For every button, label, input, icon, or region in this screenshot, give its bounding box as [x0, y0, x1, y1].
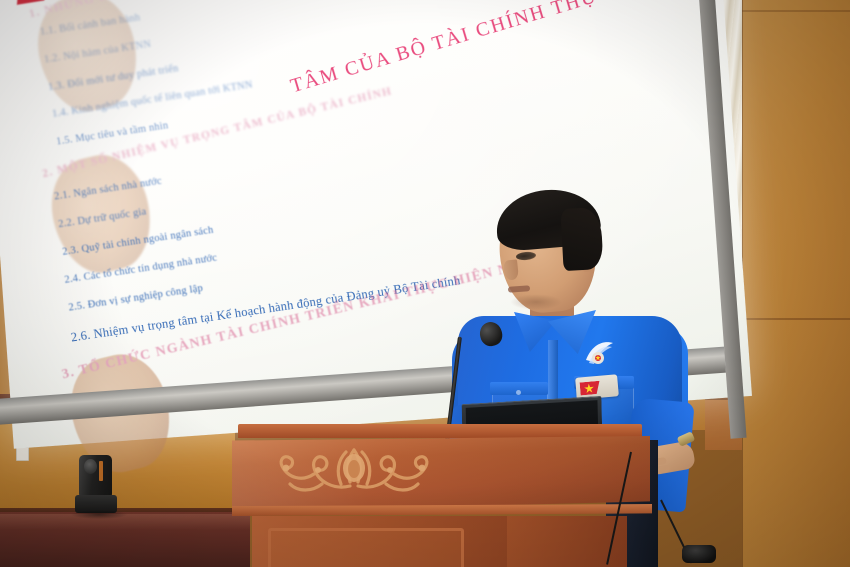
youth-union-emblem-icon [582, 338, 616, 372]
wall-panel-seam-upper [742, 10, 850, 12]
podium-base-panel [268, 528, 464, 567]
photo-scene: 1. NHỮNG ĐIỂM MỚI, ĐỘT PHÁ CỦA NGHỊ QUYẾ… [0, 0, 850, 567]
stage-light [75, 455, 117, 513]
chin-shadow [510, 294, 562, 310]
stage-light-lens [84, 459, 97, 474]
podium [232, 424, 652, 567]
stage-light-accent [99, 461, 103, 481]
podium-top-surface [238, 424, 642, 438]
wall-panel-right [742, 0, 850, 567]
slide-item-2-5: 2.5. Đơn vị sự nghiệp công lập [68, 283, 204, 314]
wall-panel-seam [742, 318, 850, 320]
carved-floral-scroll-icon [262, 442, 447, 502]
floor-microphone [682, 545, 716, 563]
pocket-button-left [516, 390, 521, 395]
wall-power-outlet [16, 447, 29, 461]
stage-light-shadow [71, 510, 127, 519]
